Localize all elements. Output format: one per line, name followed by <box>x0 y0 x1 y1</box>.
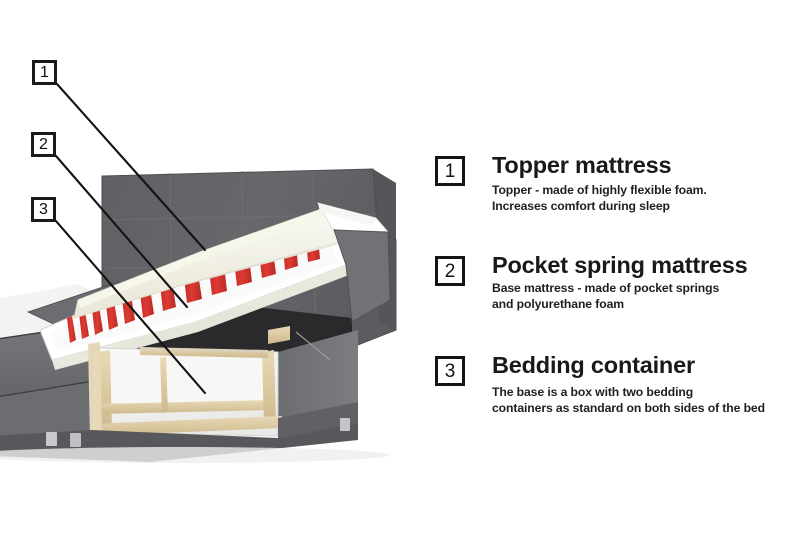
infographic-canvas: 1 2 3 1 Topper mattress Topper - made of… <box>0 0 800 533</box>
legend-description-2: Base mattress - made of pocket springs a… <box>492 281 798 312</box>
legend-number-3: 3 <box>435 356 465 386</box>
bed-cutaway-graphic <box>0 0 430 533</box>
legend-desc-3-line-2: containers as standard on both sides of … <box>492 401 798 417</box>
legend-desc-3-line-1: The base is a box with two bedding <box>492 385 798 401</box>
legend-description-1: Topper - made of highly flexible foam. I… <box>492 183 798 214</box>
legend-desc-2-line-1: Base mattress - made of pocket springs <box>492 281 798 297</box>
legend-number-2: 2 <box>435 256 465 286</box>
callout-marker-1[interactable]: 1 <box>32 60 57 85</box>
legend-desc-2-line-2: and polyurethane foam <box>492 297 798 313</box>
legend-text-block-3: Bedding container The base is a box with… <box>492 352 798 416</box>
legend-desc-1-line-1: Topper - made of highly flexible foam. <box>492 183 798 199</box>
legend-description-3: The base is a box with two bedding conta… <box>492 385 798 416</box>
bed-illustration: 1 2 3 <box>0 0 430 533</box>
legend-title-2: Pocket spring mattress <box>492 252 798 279</box>
legend-panel: 1 Topper mattress Topper - made of highl… <box>430 0 800 533</box>
callout-marker-2[interactable]: 2 <box>31 132 56 157</box>
legend-desc-1-line-2: Increases comfort during sleep <box>492 199 798 215</box>
callout-marker-3[interactable]: 3 <box>31 197 56 222</box>
legend-title-1: Topper mattress <box>492 152 798 179</box>
legend-text-block-2: Pocket spring mattress Base mattress - m… <box>492 252 798 312</box>
legend-text-block-1: Topper mattress Topper - made of highly … <box>492 152 798 214</box>
legend-title-3: Bedding container <box>492 352 798 379</box>
legend-number-1: 1 <box>435 156 465 186</box>
